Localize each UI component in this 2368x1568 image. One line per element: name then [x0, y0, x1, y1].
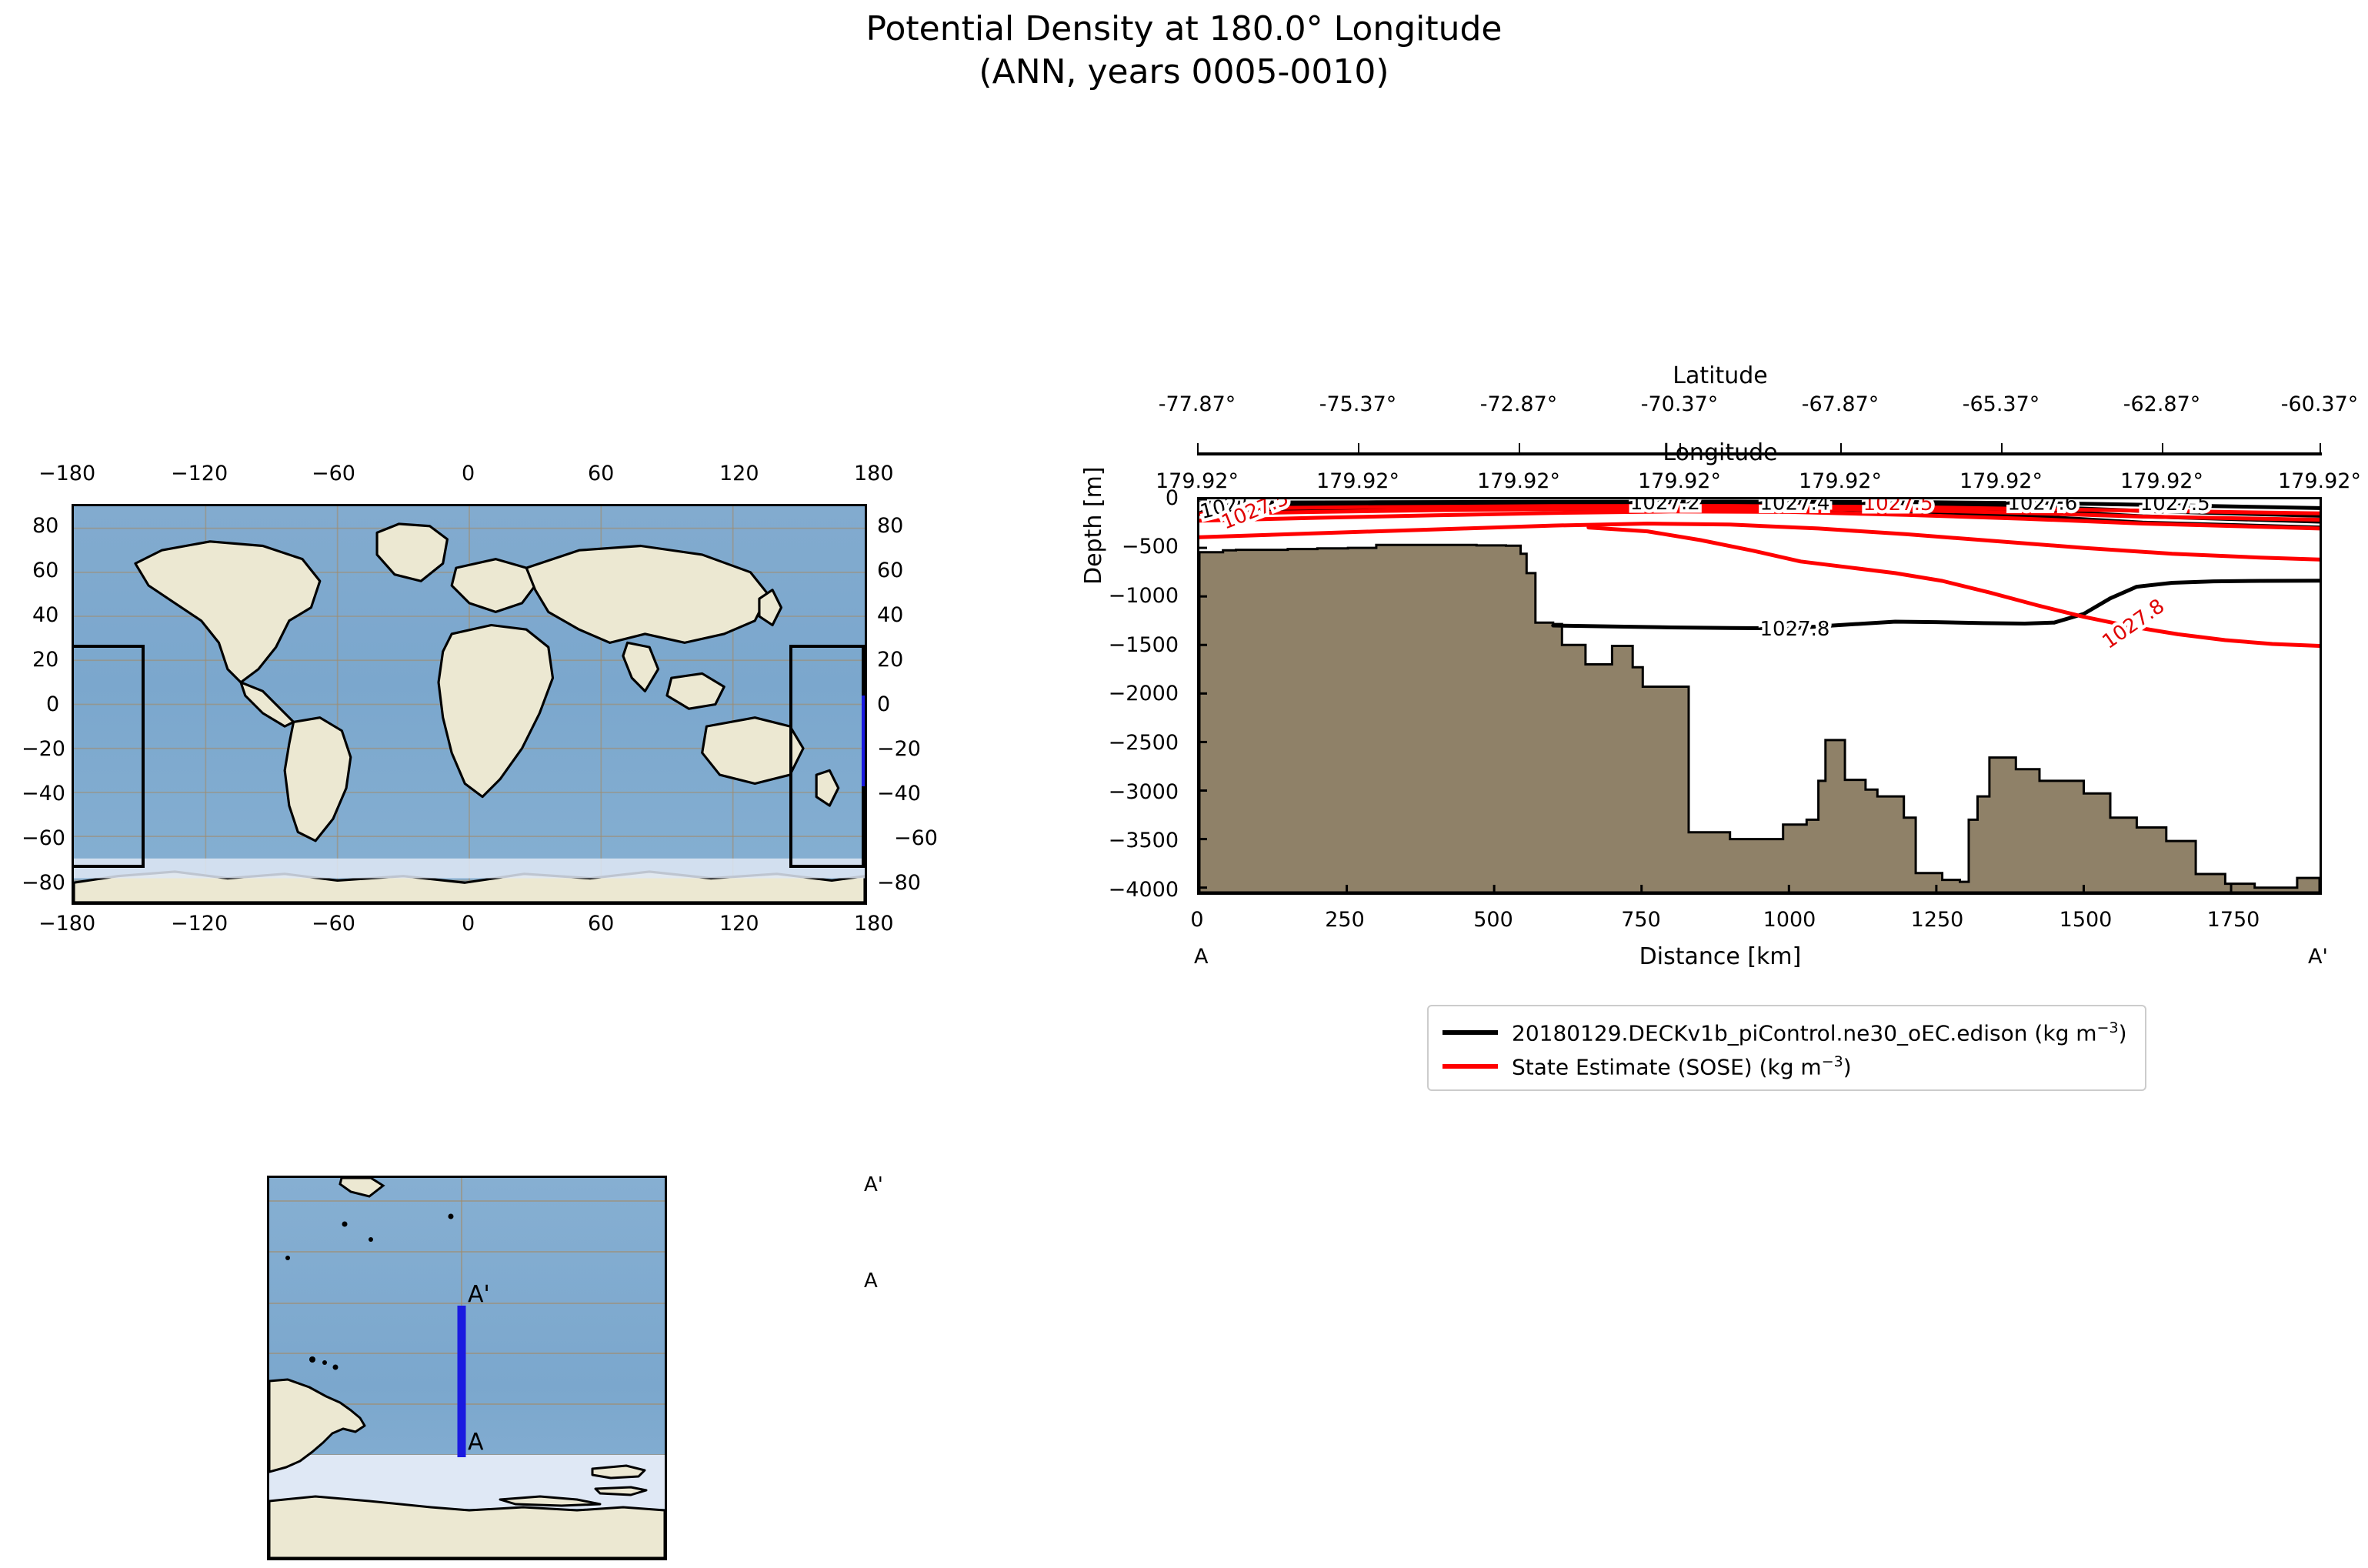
legend-sose-suffix: ) — [1843, 1054, 1852, 1079]
lon-tick-3: 179.92° — [1638, 469, 1721, 493]
legend-label-sose: State Estimate (SOSE) (kg m−3) — [1512, 1053, 1852, 1079]
dist-tick-4: 1000 — [1763, 908, 1816, 932]
legend-model-exponent: −3 — [2097, 1019, 2119, 1036]
world-ytick-left-5: −20 — [22, 737, 65, 761]
dist-tick-5: 1250 — [1911, 908, 1964, 932]
dist-tick-3: 750 — [1621, 908, 1661, 932]
world-map-frame — [72, 504, 867, 905]
lat-tick-3: -70.37° — [1641, 392, 1719, 416]
world-ytick-right-4: 0 — [877, 692, 890, 716]
world-ytick-right-3: 20 — [877, 648, 903, 672]
lat-tick-0: -77.87° — [1159, 392, 1236, 416]
contour-label-4: 1027.5 — [1863, 499, 1933, 515]
page-title: Potential Density at 180.0° Longitude (A… — [0, 8, 2368, 95]
top-tickmark-1 — [1358, 443, 1359, 452]
world-xtick-top-2: −60 — [312, 462, 355, 485]
depth-tick-5: −2500 — [1109, 731, 1179, 755]
world-xtick-bot-6: 180 — [854, 912, 894, 936]
title-line-1: Potential Density at 180.0° Longitude — [0, 8, 2368, 51]
world-ytick-right-8: −80 — [877, 871, 921, 895]
legend-model-prefix: 20180129.DECKv1b_piControl.ne30_oEC.edis… — [1512, 1020, 2097, 1046]
lat-tick-4: -67.87° — [1802, 392, 1879, 416]
world-map-panel: A' A — [72, 504, 867, 905]
latitude-axis-label: Latitude — [1673, 362, 1767, 389]
world-xtick-top-4: 60 — [588, 462, 614, 485]
depth-tick-3: −1500 — [1109, 633, 1179, 657]
world-ytick-left-3: 20 — [32, 648, 58, 672]
legend-sose-prefix: State Estimate (SOSE) (kg m — [1512, 1054, 1822, 1079]
world-transect-end-label: A' — [864, 1173, 883, 1196]
world-ytick-left-8: −80 — [22, 871, 65, 895]
depth-tick-4: −2000 — [1109, 682, 1179, 706]
world-xtick-bot-5: 120 — [719, 912, 759, 936]
contour-label-5: 1027.6 — [2007, 499, 2077, 515]
depth-tick-2: −1000 — [1109, 584, 1179, 608]
world-ytick-right-6: −40 — [877, 782, 921, 806]
depth-tick-8: −4000 — [1109, 878, 1179, 902]
world-ytick-left-1: 60 — [32, 559, 58, 582]
lon-tick-2: 179.92° — [1477, 469, 1560, 493]
world-ytick-right-2: 40 — [877, 603, 903, 627]
inset-coastlines — [269, 1178, 665, 1558]
cross-section-panel: 1027.51027.51027.51027.51027.21027.21027… — [1197, 497, 2322, 895]
dist-tick-7: 1750 — [2207, 908, 2260, 932]
lat-tick-7: -60.37° — [2281, 392, 2359, 416]
top-tickmark-4 — [1840, 443, 1842, 452]
lon-tick-7: 179.92° — [2278, 469, 2361, 493]
world-xtick-top-1: −120 — [171, 462, 228, 485]
contour-label-2: 1027.2 — [1630, 499, 1700, 515]
world-xtick-top-6: 180 — [854, 462, 894, 485]
top-tickmark-6 — [2162, 443, 2163, 452]
transect-region-box-left — [72, 645, 145, 868]
legend-model-suffix: ) — [2119, 1020, 2127, 1046]
contour-label-7: 1027.8 — [1759, 618, 1829, 641]
dist-tick-6: 1500 — [2059, 908, 2113, 932]
lon-tick-6: 179.92° — [2120, 469, 2203, 493]
dist-tick-1: 250 — [1325, 908, 1365, 932]
world-xtick-bot-2: −60 — [312, 912, 355, 936]
dist-tick-0: 0 — [1190, 908, 1203, 932]
lat-tick-5: -65.37° — [1963, 392, 2040, 416]
lon-tick-4: 179.92° — [1799, 469, 1882, 493]
world-ytick-right-1: 60 — [877, 559, 903, 582]
legend-sose-exponent: −3 — [1822, 1053, 1843, 1070]
world-transect-start-label: A — [864, 1269, 878, 1293]
legend: 20180129.DECKv1b_piControl.ne30_oEC.edis… — [1427, 1005, 2146, 1091]
legend-entry-sose: State Estimate (SOSE) (kg m−3) — [1442, 1049, 2131, 1083]
contour-label-8: 1027.8 — [2098, 595, 2169, 654]
dist-tick-2: 500 — [1473, 908, 1513, 932]
world-ytick-left-7: −60 — [22, 826, 65, 850]
world-xtick-top-0: −180 — [38, 462, 95, 485]
contour-label-3: 1027.4 — [1759, 499, 1829, 515]
depth-tick-7: −3500 — [1109, 829, 1179, 852]
lat-tick-6: -62.87° — [2123, 392, 2201, 416]
top-tickmark-0 — [1197, 443, 1199, 452]
longitude-axis-label: Longitude — [1663, 439, 1777, 466]
world-xtick-top-5: 120 — [719, 462, 759, 485]
world-ytick-left-2: 40 — [32, 603, 58, 627]
world-xtick-top-3: 0 — [462, 462, 475, 485]
world-ytick-right-7: −60 — [894, 826, 938, 850]
top-tickmark-2 — [1519, 443, 1520, 452]
depth-tick-0: 0 — [1166, 486, 1179, 510]
legend-swatch-sose — [1442, 1064, 1498, 1069]
top-tickmark-7 — [2320, 443, 2321, 452]
world-ytick-left-4: 0 — [46, 692, 59, 716]
top-tickmark-5 — [2001, 443, 2003, 452]
lat-tick-2: -72.87° — [1480, 392, 1558, 416]
legend-swatch-model — [1442, 1030, 1498, 1035]
legend-entry-model: 20180129.DECKv1b_piControl.ne30_oEC.edis… — [1442, 1016, 2131, 1049]
world-xtick-bot-0: −180 — [38, 912, 95, 936]
cross-section-plot: 1027.51027.51027.51027.51027.21027.21027… — [1199, 499, 2320, 892]
distance-axis-label: Distance [km] — [1639, 943, 1802, 970]
transect-line — [862, 696, 867, 786]
depth-tick-6: −3000 — [1109, 780, 1179, 804]
world-ytick-right-0: 80 — [877, 514, 903, 538]
xsec-start-label: A — [1194, 945, 1208, 969]
world-ytick-right-5: −20 — [877, 737, 921, 761]
world-coastlines — [74, 506, 865, 902]
depth-tick-1: −500 — [1122, 535, 1179, 559]
world-xtick-bot-1: −120 — [171, 912, 228, 936]
world-ytick-left-0: 80 — [32, 514, 58, 538]
lat-tick-1: -75.37° — [1319, 392, 1397, 416]
cross-section-frame: 1027.51027.51027.51027.51027.21027.21027… — [1197, 497, 2322, 895]
contour-label-6: 1027.5 — [2140, 499, 2210, 515]
transect-region-box-right — [789, 645, 865, 868]
world-xtick-bot-3: 0 — [462, 912, 475, 936]
lon-tick-1: 179.92° — [1316, 469, 1399, 493]
world-ytick-left-6: −40 — [22, 782, 65, 806]
depth-axis-label: Depth [m] — [1080, 466, 1107, 585]
world-xtick-bot-4: 60 — [588, 912, 614, 936]
inset-transect-end-label: A' — [468, 1281, 490, 1308]
lon-tick-5: 179.92° — [1959, 469, 2043, 493]
inset-map-panel: A' A — [267, 1176, 667, 1560]
inset-map-frame: A' A — [267, 1176, 667, 1560]
xsec-end-label: A' — [2308, 945, 2328, 969]
legend-label-model: 20180129.DECKv1b_piControl.ne30_oEC.edis… — [1512, 1019, 2127, 1046]
inset-transect-start-label: A — [468, 1429, 484, 1456]
title-line-2: (ANN, years 0005-0010) — [0, 51, 2368, 94]
